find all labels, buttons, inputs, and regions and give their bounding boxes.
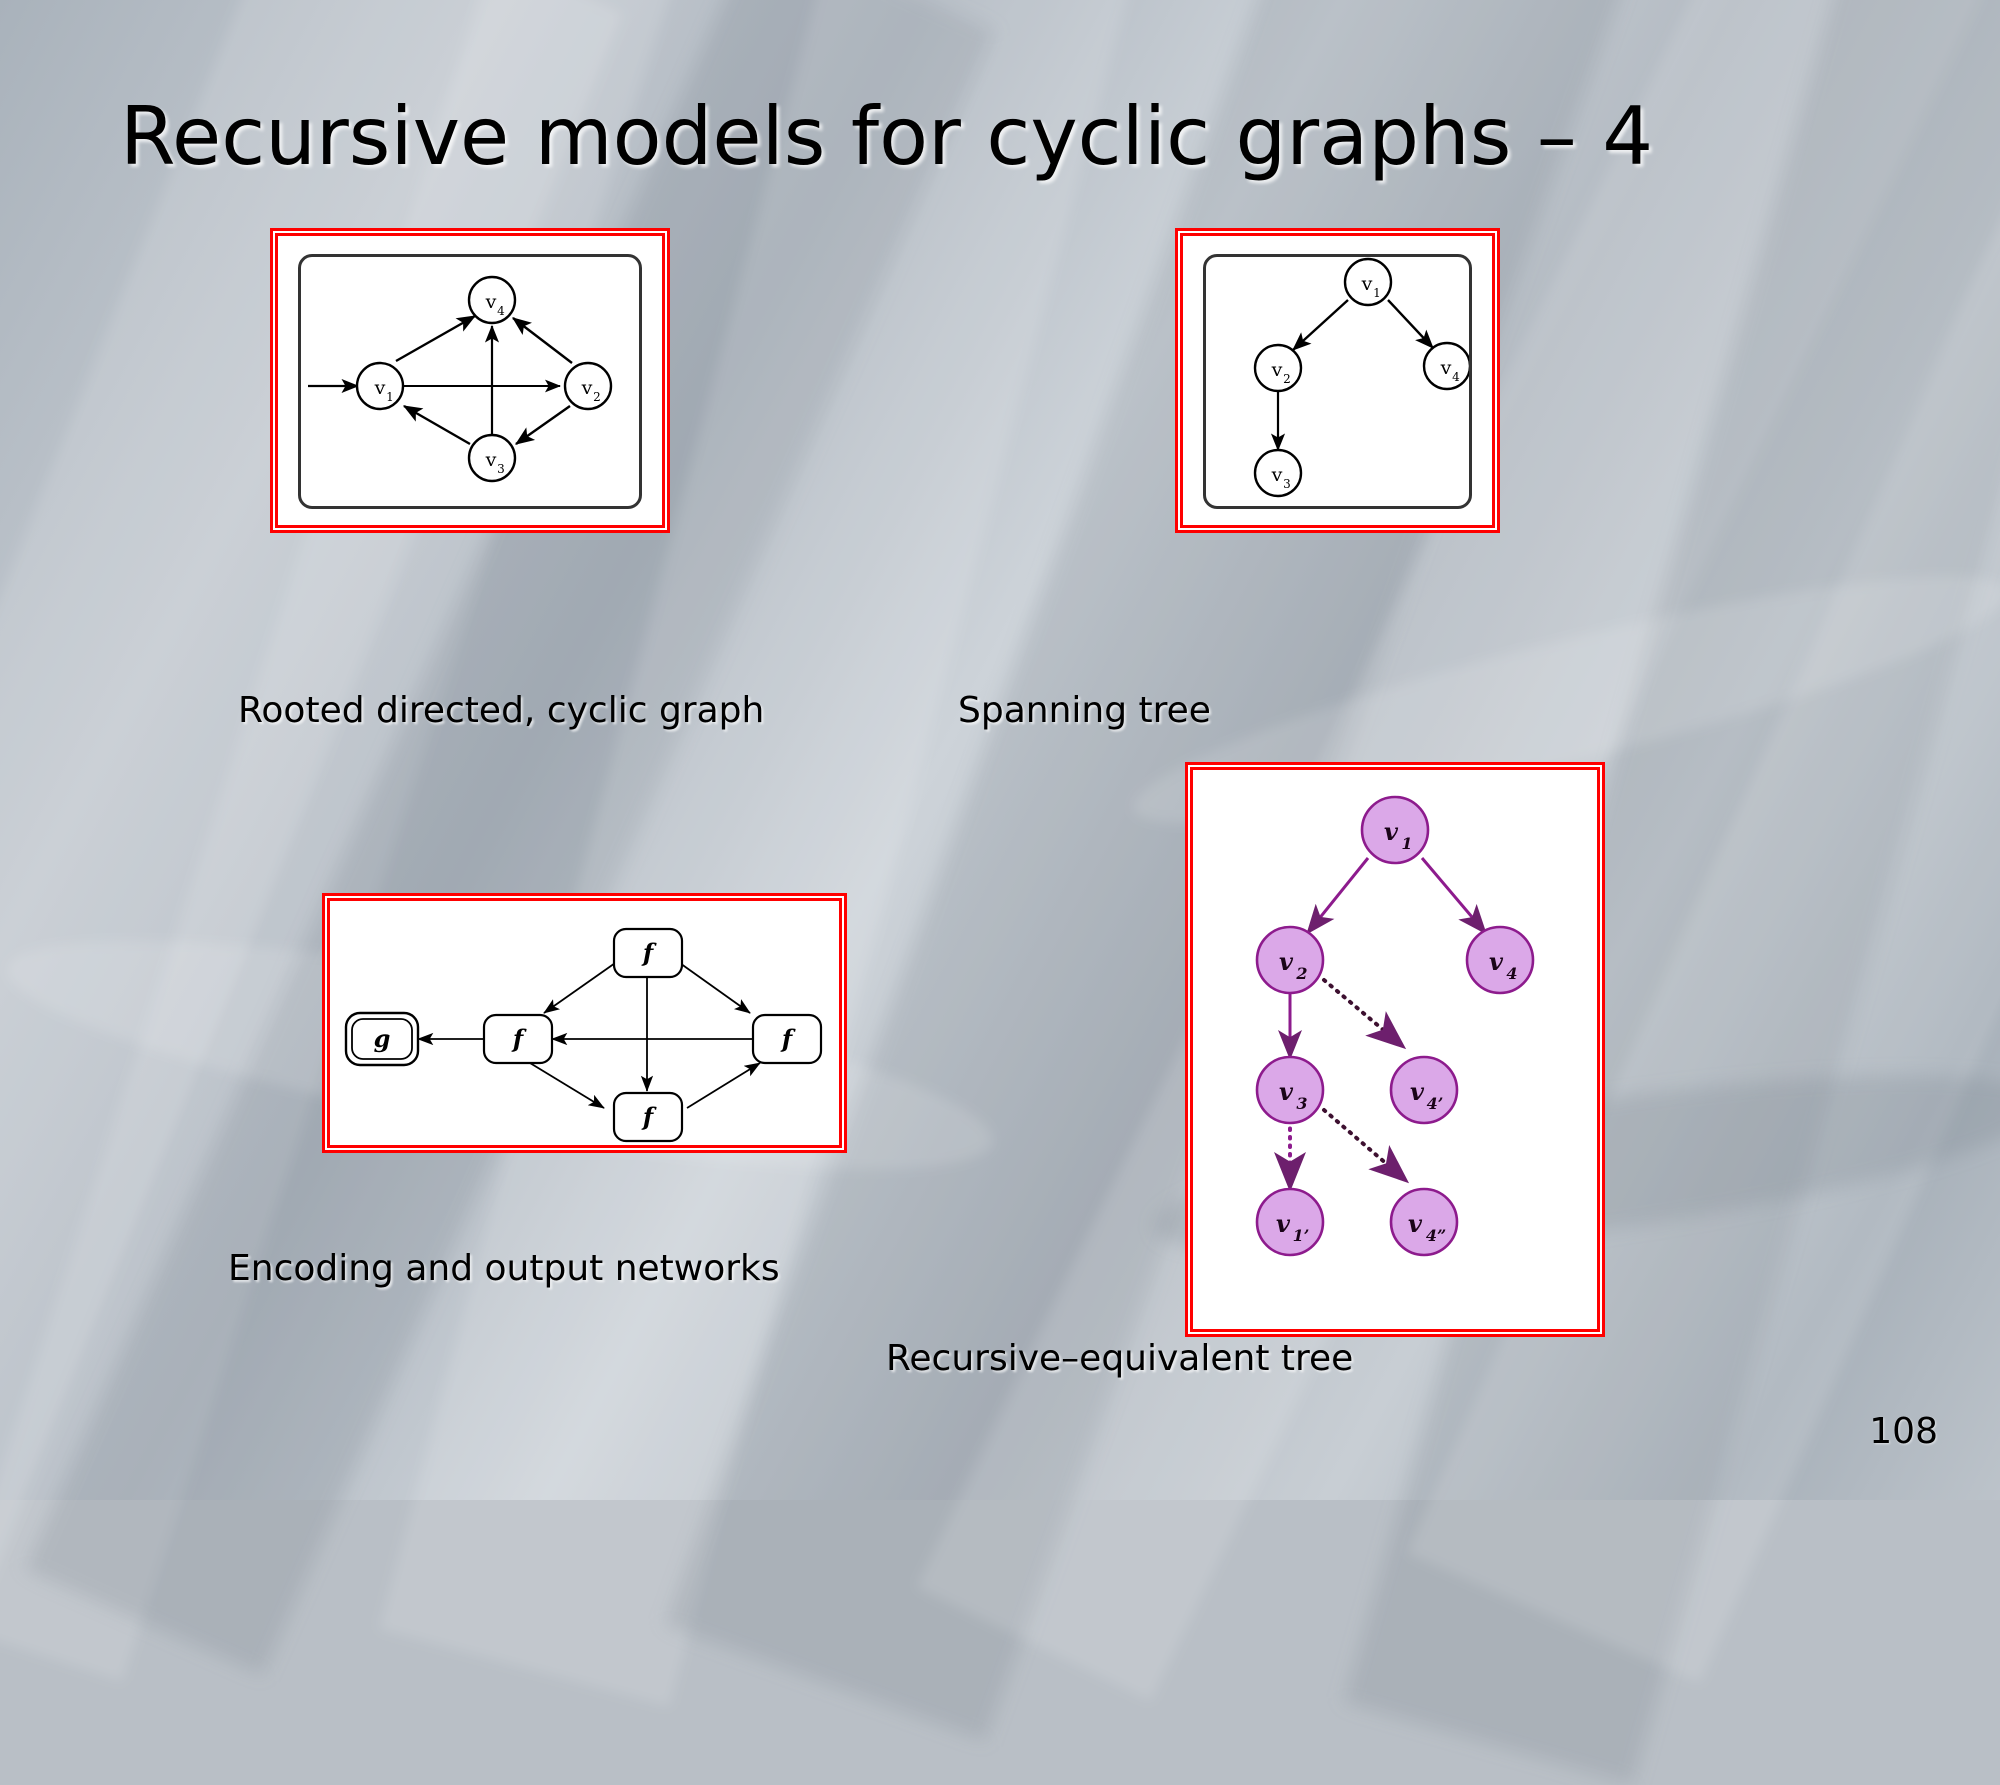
svg-text:v: v xyxy=(1489,947,1504,976)
caption-recursive-equivalent-tree: Recursive–equivalent tree xyxy=(886,1338,1353,1379)
svg-text:v: v xyxy=(1279,1077,1294,1106)
panel-spanning-tree[interactable]: v 1 v 2 v 4 v 3 xyxy=(1175,228,1500,533)
panel-recursive-equivalent-tree[interactable]: v 1 v 2 v 4 v 3 v 4’ v 1’ v 4” xyxy=(1185,762,1605,1337)
svg-text:3: 3 xyxy=(1296,1094,1307,1113)
svg-text:1: 1 xyxy=(1401,834,1412,853)
caption-rooted-cyclic-graph: Rooted directed, cyclic graph xyxy=(238,690,764,731)
svg-text:g: g xyxy=(374,1024,391,1053)
svg-text:4: 4 xyxy=(1506,964,1517,983)
spanning-tree-image: v 1 v 2 v 4 v 3 xyxy=(1185,238,1490,523)
caption-encoding-output-networks: Encoding and output networks xyxy=(228,1248,780,1289)
encoding-network-svg: g f f f f xyxy=(332,903,837,1143)
svg-text:v: v xyxy=(1279,947,1294,976)
svg-text:v: v xyxy=(1276,1209,1291,1238)
svg-text:v: v xyxy=(1410,1077,1425,1106)
svg-text:4’: 4’ xyxy=(1427,1094,1444,1113)
panel-rooted-cyclic-graph[interactable]: v 1 v 4 v 2 v 3 xyxy=(270,228,670,533)
rooted-cyclic-graph-image: v 1 v 4 v 2 v 3 xyxy=(280,238,660,523)
svg-text:v: v xyxy=(1408,1209,1423,1238)
recursive-equivalent-tree-svg: v 1 v 2 v 4 v 3 v 4’ v 1’ v 4” xyxy=(1195,772,1595,1327)
recursive-equivalent-tree-image: v 1 v 2 v 4 v 3 v 4’ v 1’ v 4” xyxy=(1195,772,1595,1327)
svg-text:4”: 4” xyxy=(1426,1226,1446,1245)
svg-text:v: v xyxy=(1384,817,1399,846)
encoding-network-image: g f f f f xyxy=(332,903,837,1143)
tree-border xyxy=(1203,254,1472,509)
page-number: 108 xyxy=(1869,1411,1938,1452)
svg-text:1’: 1’ xyxy=(1293,1226,1310,1245)
slide-title: Recursive models for cyclic graphs – 4 xyxy=(120,95,1910,179)
graph-border xyxy=(298,254,642,509)
svg-text:2: 2 xyxy=(1295,964,1307,983)
panel-encoding-output-networks[interactable]: g f f f f xyxy=(322,893,847,1153)
caption-spanning-tree: Spanning tree xyxy=(958,690,1211,731)
